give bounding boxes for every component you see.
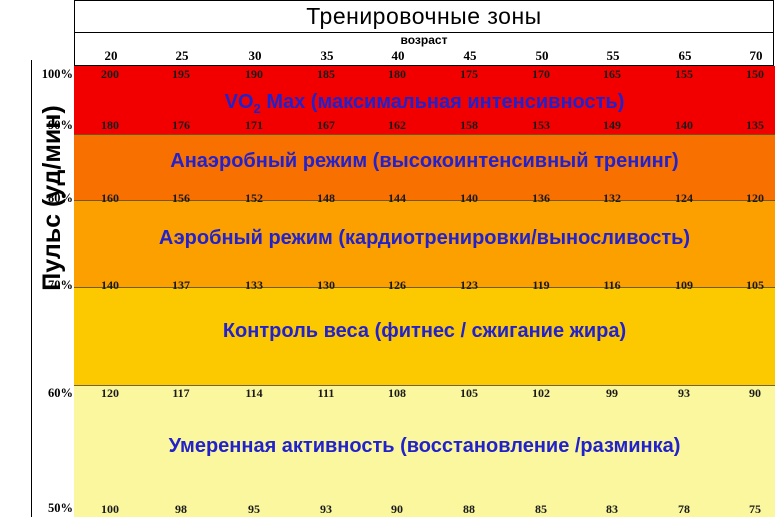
zone-band-moderate: Умеренная активность (восстановление /ра…	[74, 385, 775, 517]
hr-value: 170	[508, 67, 574, 82]
y-tick-60: 60%	[31, 386, 73, 401]
hr-value: 160	[77, 191, 143, 206]
hr-row-80: 160156152148144140136132124120	[74, 191, 775, 206]
hr-row-70: 140137133130126123119116109105	[74, 278, 775, 293]
y-tick-50: 50%	[31, 501, 73, 516]
hr-value: 153	[508, 118, 574, 133]
hr-value: 108	[364, 386, 430, 401]
age-tick: 65	[652, 47, 718, 65]
hr-value: 85	[508, 502, 574, 517]
hr-row-60: 120117114111108105102999390	[74, 386, 775, 401]
hr-value: 155	[651, 67, 717, 82]
hr-value: 152	[221, 191, 287, 206]
hr-row-90: 180176171167162158153149140135	[74, 118, 775, 133]
hr-row-50: 100989593908885837875	[74, 502, 775, 517]
hr-value: 75	[722, 502, 775, 517]
chart-title-bar: Тренировочные зоны	[74, 0, 774, 33]
hr-value: 100	[77, 502, 143, 517]
hr-row-100: 200195190185180175170165155150	[74, 67, 775, 82]
zone-label-aerobic: Аэробный режим (кардиотренировки/выносли…	[74, 227, 775, 250]
hr-value: 180	[77, 118, 143, 133]
age-tick: 45	[437, 47, 503, 65]
hr-value: 90	[364, 502, 430, 517]
hr-value: 102	[508, 386, 574, 401]
y-tick-90: 90%	[31, 118, 73, 133]
y-tick-100: 100%	[31, 67, 73, 82]
hr-value: 140	[436, 191, 502, 206]
zone-label-vo2: VO2 Max (максимальная интенсивность)	[74, 91, 775, 116]
hr-value: 150	[722, 67, 775, 82]
hr-value: 190	[221, 67, 287, 82]
hr-value: 175	[436, 67, 502, 82]
hr-value: 78	[651, 502, 717, 517]
training-zones-chart: Пульс (уд/мин) 100%90%80%70%60%50% Трени…	[0, 0, 775, 517]
hr-value: 123	[436, 278, 502, 293]
age-tick: 50	[509, 47, 575, 65]
age-tick: 20	[78, 47, 144, 65]
hr-value: 111	[293, 386, 359, 401]
y-tick-70: 70%	[31, 278, 73, 293]
hr-value: 83	[579, 502, 645, 517]
zone-label-weight: Контроль веса (фитнес / сжигание жира)	[74, 320, 775, 343]
hr-value: 98	[148, 502, 214, 517]
hr-value: 156	[148, 191, 214, 206]
hr-value: 126	[364, 278, 430, 293]
hr-value: 180	[364, 67, 430, 82]
age-tick: 55	[580, 47, 646, 65]
hr-value: 144	[364, 191, 430, 206]
hr-value: 136	[508, 191, 574, 206]
hr-value: 116	[579, 278, 645, 293]
hr-value: 120	[77, 386, 143, 401]
zone-separator	[74, 134, 775, 135]
hr-value: 119	[508, 278, 574, 293]
age-tick: 25	[149, 47, 215, 65]
x-axis-header: возраст 20253035404550556570	[74, 33, 774, 66]
x-axis-label: возраст	[75, 33, 773, 48]
hr-value: 109	[651, 278, 717, 293]
hr-value: 135	[722, 118, 775, 133]
hr-value: 162	[364, 118, 430, 133]
hr-value: 114	[221, 386, 287, 401]
chart-title: Тренировочные зоны	[306, 3, 541, 30]
hr-value: 171	[221, 118, 287, 133]
age-tick: 70	[723, 47, 775, 65]
hr-value: 105	[722, 278, 775, 293]
hr-value: 124	[651, 191, 717, 206]
zones-plot: VO2 Max (максимальная интенсивность)Анаэ…	[74, 66, 775, 517]
hr-value: 148	[293, 191, 359, 206]
hr-value: 165	[579, 67, 645, 82]
hr-value: 117	[148, 386, 214, 401]
hr-value: 120	[722, 191, 775, 206]
zone-band-aerobic: Аэробный режим (кардиотренировки/выносли…	[74, 200, 775, 287]
hr-value: 90	[722, 386, 775, 401]
hr-value: 176	[148, 118, 214, 133]
hr-value: 93	[293, 502, 359, 517]
hr-value: 140	[651, 118, 717, 133]
hr-value: 137	[148, 278, 214, 293]
hr-value: 195	[148, 67, 214, 82]
hr-value: 130	[293, 278, 359, 293]
hr-value: 185	[293, 67, 359, 82]
hr-value: 88	[436, 502, 502, 517]
hr-value: 93	[651, 386, 717, 401]
hr-value: 133	[221, 278, 287, 293]
hr-value: 105	[436, 386, 502, 401]
hr-value: 132	[579, 191, 645, 206]
age-tick-row: 20253035404550556570	[75, 47, 773, 65]
age-tick: 30	[222, 47, 288, 65]
age-tick: 35	[294, 47, 360, 65]
zone-label-anaerobic: Анаэробный режим (высокоинтенсивный трен…	[74, 150, 775, 173]
hr-value: 140	[77, 278, 143, 293]
zone-label-moderate: Умеренная активность (восстановление /ра…	[74, 435, 775, 458]
zone-band-weight: Контроль веса (фитнес / сжигание жира)	[74, 287, 775, 385]
hr-value: 149	[579, 118, 645, 133]
age-tick: 40	[365, 47, 431, 65]
hr-value: 167	[293, 118, 359, 133]
y-tick-80: 80%	[31, 191, 73, 206]
hr-value: 200	[77, 67, 143, 82]
hr-value: 158	[436, 118, 502, 133]
hr-value: 95	[221, 502, 287, 517]
hr-value: 99	[579, 386, 645, 401]
